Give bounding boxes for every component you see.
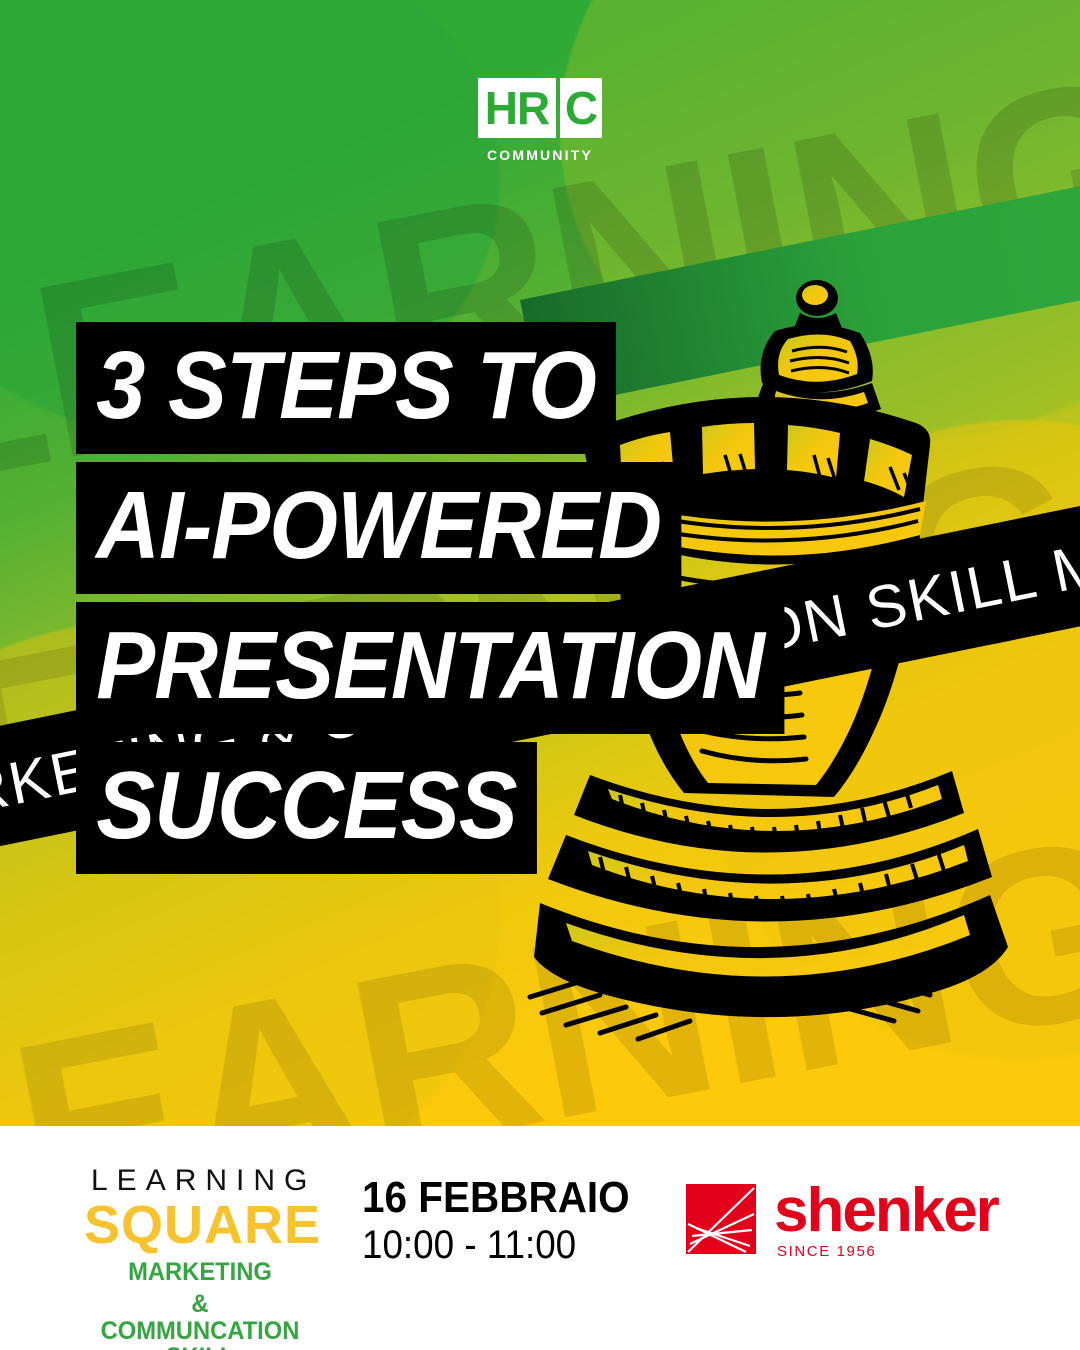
- headline-block: 3 STEPS TO AI-POWERED PRESENTATION SUCCE…: [76, 322, 846, 882]
- learning-square-tagline-line1: MARKETING: [90, 1259, 310, 1285]
- event-datetime: 16 FEBBRAIO 10:00 - 11:00: [362, 1174, 653, 1268]
- shenker-wordmark: shenker: [774, 1182, 998, 1239]
- hrc-logo-marks: HR C: [478, 78, 602, 138]
- hrc-logo-letters-hr: HR: [485, 85, 549, 131]
- headline-line: PRESENTATION: [76, 602, 784, 734]
- shenker-since-label: SINCE 1956: [777, 1243, 998, 1260]
- learning-square-word-square: SQUARE: [84, 1198, 316, 1253]
- shenker-logo: shenker SINCE 1956: [686, 1182, 998, 1260]
- hrc-logo-subtitle: COMMUNITY: [487, 147, 593, 163]
- hrc-logo-box-c: C: [560, 78, 602, 138]
- learning-square-word-learning: LEARNING: [91, 1166, 316, 1196]
- footer-bar: LEARNING SQUARE MARKETING & COMMUNCATION…: [0, 1126, 1080, 1350]
- poster-canvas: LEARNING SQUARE LEARNING SQUARE LEARNING…: [0, 0, 1080, 1350]
- hrc-logo: HR C COMMUNITY: [0, 78, 1080, 163]
- headline-line: 3 STEPS TO: [76, 322, 616, 454]
- shenker-mark-icon: [686, 1184, 756, 1254]
- event-date: 16 FEBBRAIO: [362, 1174, 630, 1222]
- shenker-wordmark-block: shenker SINCE 1956: [774, 1182, 998, 1260]
- learning-square-logo: LEARNING SQUARE MARKETING & COMMUNCATION…: [84, 1166, 316, 1350]
- artwork-area: LEARNING SQUARE LEARNING SQUARE LEARNING…: [0, 0, 1080, 1126]
- hrc-logo-letters-c: C: [565, 85, 597, 131]
- headline-line: AI-POWERED: [76, 462, 681, 594]
- hrc-logo-box-hr: HR: [478, 78, 556, 138]
- event-time: 10:00 - 11:00: [362, 1222, 630, 1268]
- learning-square-tagline-line2: & COMMUNCATION SKILL: [90, 1291, 310, 1350]
- headline-line: SUCCESS: [76, 742, 537, 874]
